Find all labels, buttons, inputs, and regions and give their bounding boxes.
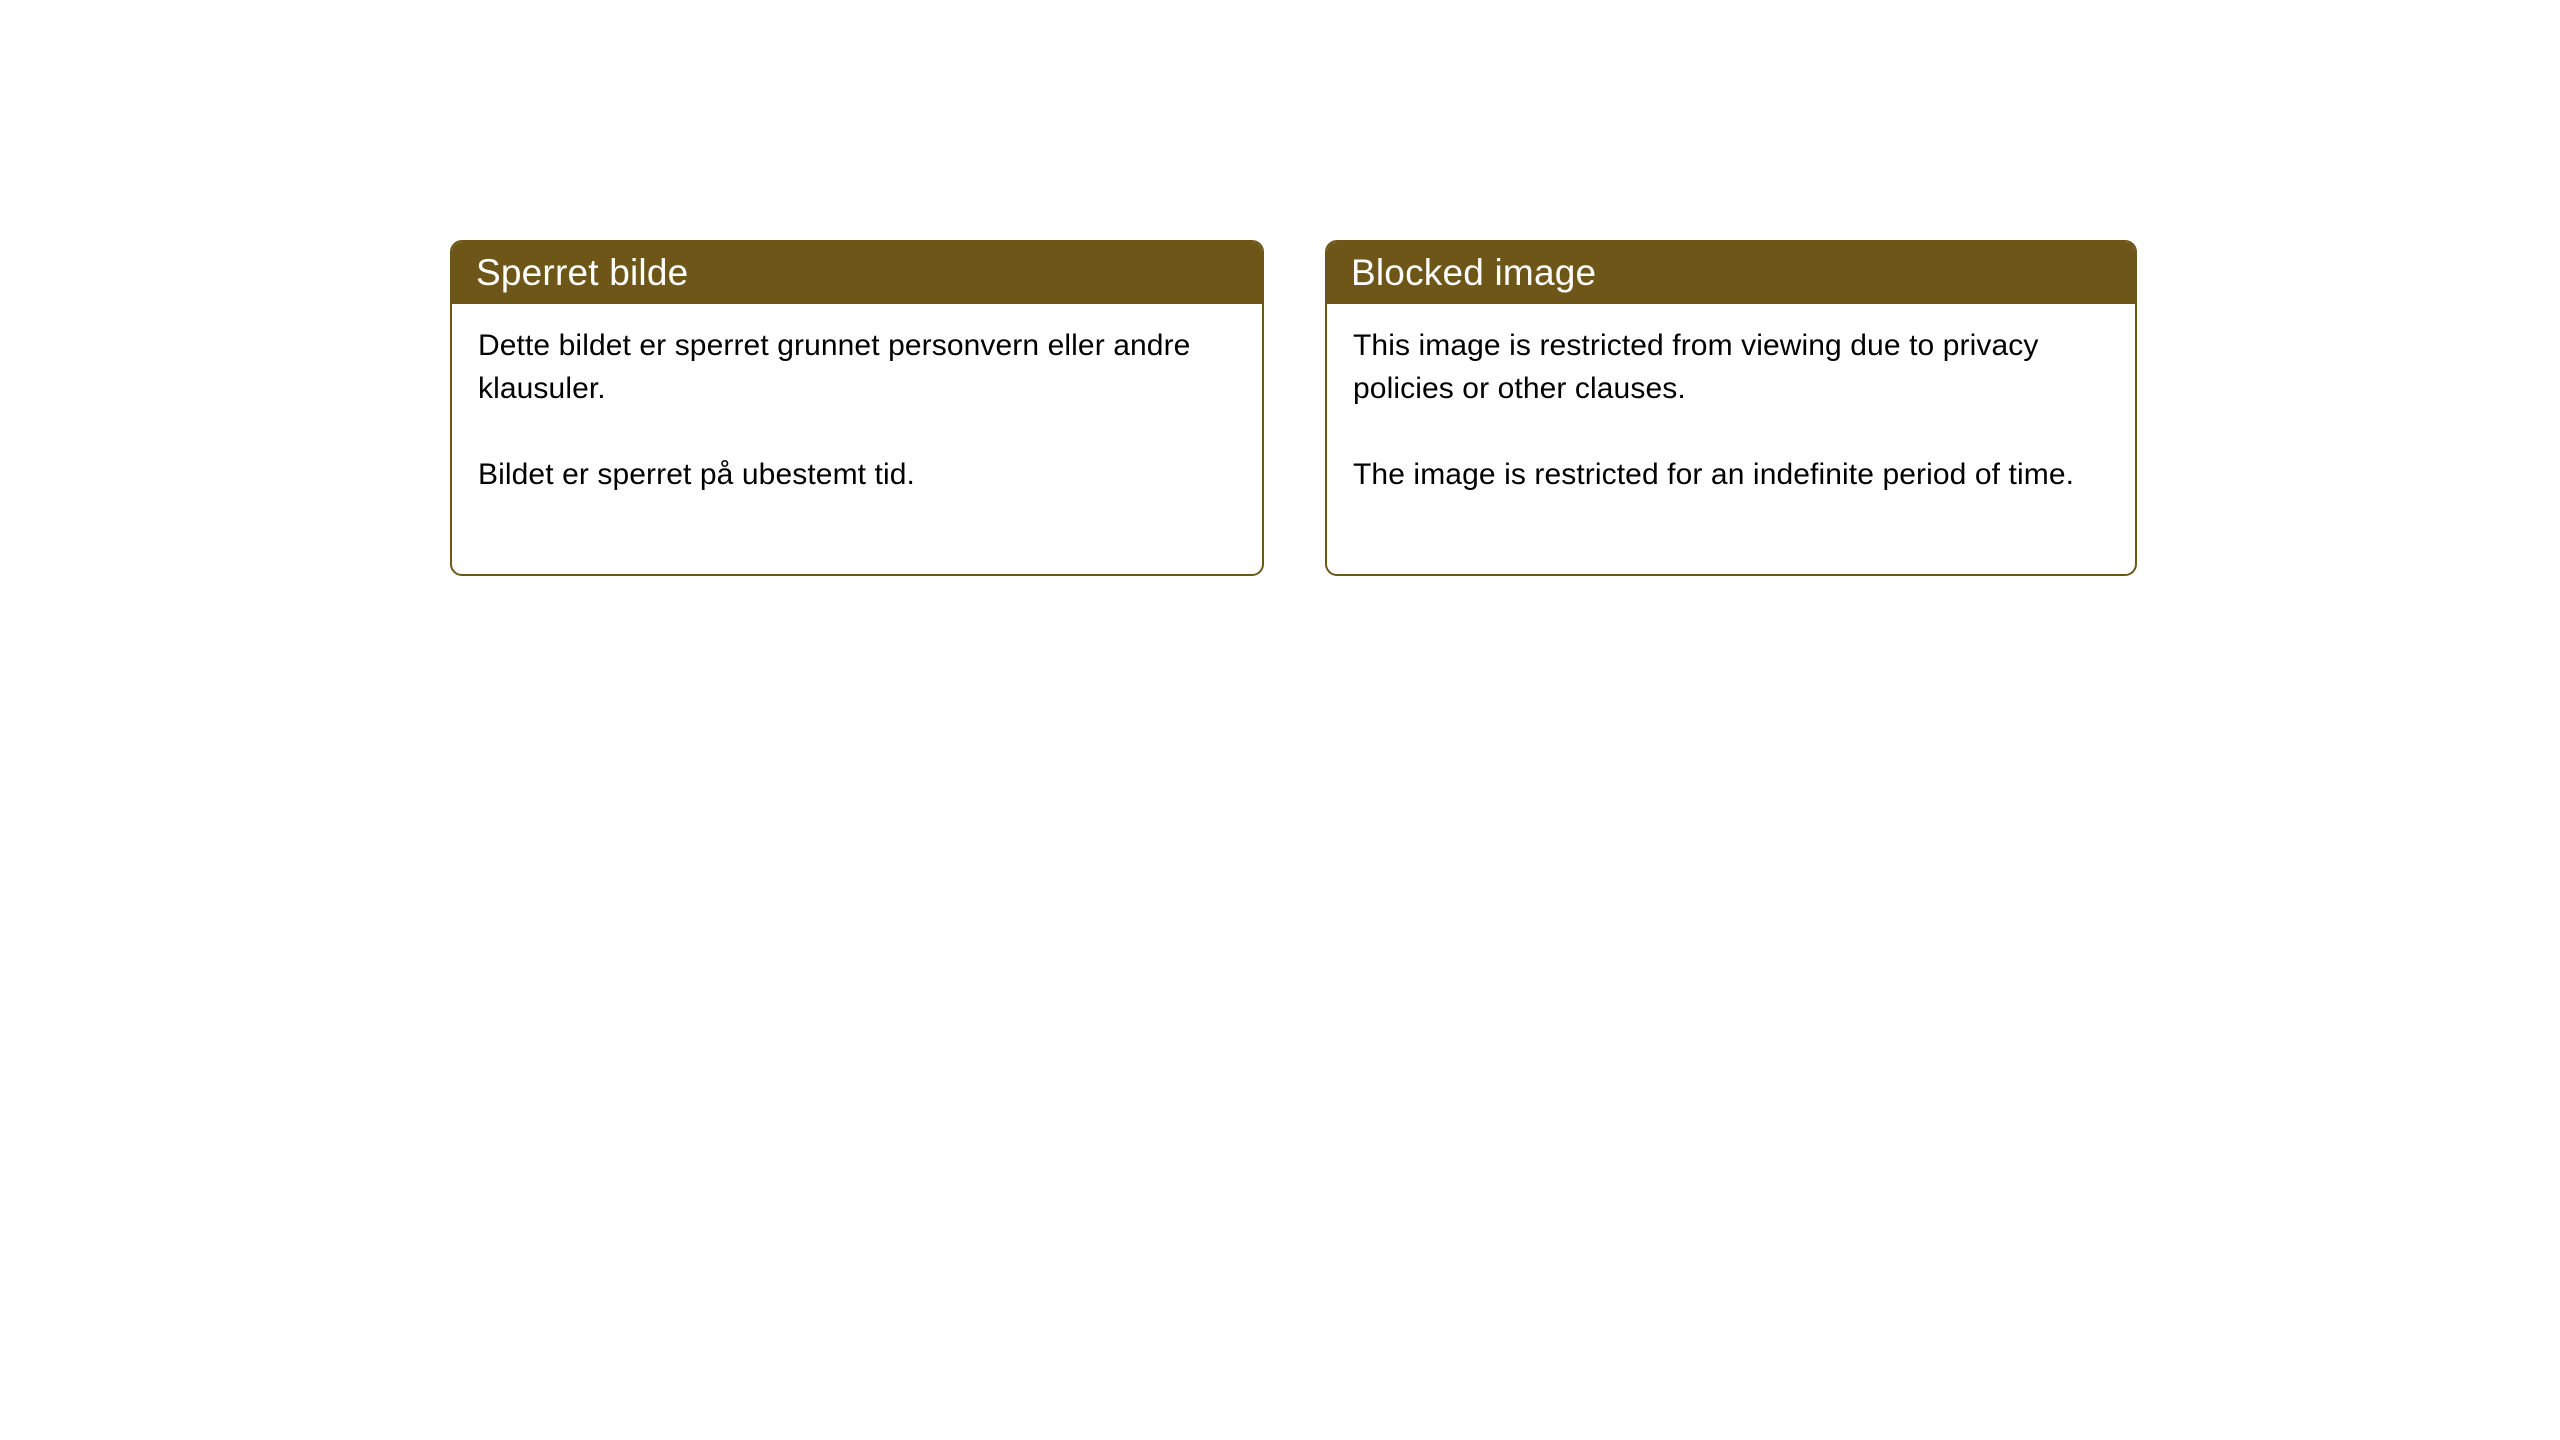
card-paragraph-duration-english: The image is restricted for an indefinit… bbox=[1353, 453, 2109, 496]
card-paragraph-reason-norwegian: Dette bildet er sperret grunnet personve… bbox=[478, 324, 1236, 410]
card-paragraph-duration-norwegian: Bildet er sperret på ubestemt tid. bbox=[478, 453, 1236, 496]
blocked-image-notice-area: Sperret bilde Dette bildet er sperret gr… bbox=[0, 0, 2560, 1440]
card-header-norwegian: Sperret bilde bbox=[452, 242, 1262, 304]
card-body-norwegian: Dette bildet er sperret grunnet personve… bbox=[452, 304, 1262, 496]
blocked-image-card-english: Blocked image This image is restricted f… bbox=[1325, 240, 2137, 576]
card-paragraph-reason-english: This image is restricted from viewing du… bbox=[1353, 324, 2109, 410]
card-header-english: Blocked image bbox=[1327, 242, 2135, 304]
card-title-norwegian: Sperret bilde bbox=[476, 252, 688, 294]
blocked-image-card-norwegian: Sperret bilde Dette bildet er sperret gr… bbox=[450, 240, 1264, 576]
card-body-english: This image is restricted from viewing du… bbox=[1327, 304, 2135, 496]
card-title-english: Blocked image bbox=[1351, 252, 1596, 294]
